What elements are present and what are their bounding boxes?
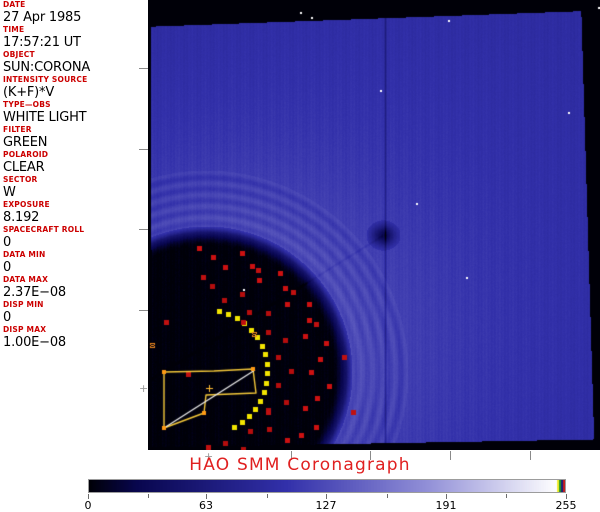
metadata-row: DATE27 Apr 1985 xyxy=(0,0,148,25)
metadata-value: 2.37E−08 xyxy=(3,285,148,300)
metadata-value: 0 xyxy=(3,235,148,250)
metadata-value: CLEAR xyxy=(3,160,148,175)
metadata-label: DISP MAX xyxy=(3,325,148,335)
metadata-row: TIME17:57:21 UT xyxy=(0,25,148,50)
metadata-value: 17:57:21 UT xyxy=(3,35,148,50)
metadata-row: FILTERGREEN xyxy=(0,125,148,150)
metadata-label: SPACECRAFT ROLL xyxy=(3,225,148,235)
colorbar-gradient xyxy=(89,480,565,492)
metadata-label: DATA MIN xyxy=(3,250,148,260)
colorbar-tick-label: 191 xyxy=(436,499,457,512)
metadata-row: DISP MAX1.00E−08 xyxy=(0,325,148,350)
colorbar-tick-label: 255 xyxy=(556,499,577,512)
metadata-value: 0 xyxy=(3,260,148,275)
coronagraph-image-panel[interactable] xyxy=(148,0,600,450)
metadata-row: SECTORW xyxy=(0,175,148,200)
metadata-row: INTENSITY SOURCE(K+F)*V xyxy=(0,75,148,100)
colorbar-minor-tick xyxy=(506,494,507,498)
colorbar[interactable] xyxy=(88,479,566,493)
metadata-label: INTENSITY SOURCE xyxy=(3,75,148,85)
metadata-label: EXPOSURE xyxy=(3,200,148,210)
axis-tick-left xyxy=(139,68,148,69)
metadata-row: POLAROIDCLEAR xyxy=(0,150,148,175)
metadata-label: FILTER xyxy=(3,125,148,135)
metadata-label: SECTOR xyxy=(3,175,148,185)
axis-tick-left xyxy=(139,310,148,311)
metadata-value: 0 xyxy=(3,310,148,325)
colorbar-tick-label: 0 xyxy=(85,499,92,512)
metadata-row: DATA MAX2.37E−08 xyxy=(0,275,148,300)
axis-tick-left xyxy=(139,229,148,230)
crosshair-marker-left: + xyxy=(139,383,148,394)
metadata-value: 8.192 xyxy=(3,210,148,225)
metadata-row: SPACECRAFT ROLL0 xyxy=(0,225,148,250)
metadata-row: DATA MIN0 xyxy=(0,250,148,275)
colorbar-minor-tick xyxy=(387,494,388,498)
metadata-panel: DATE27 Apr 1985TIME17:57:21 UTOBJECTSUN:… xyxy=(0,0,148,450)
metadata-value: WHITE LIGHT xyxy=(3,110,148,125)
metadata-value: 1.00E−08 xyxy=(3,335,148,350)
metadata-label: DISP MIN xyxy=(3,300,148,310)
metadata-label: OBJECT xyxy=(3,50,148,60)
corona-image[interactable] xyxy=(148,0,600,450)
colorbar-minor-tick xyxy=(267,494,268,498)
colorbar-tick-label: 63 xyxy=(199,499,213,512)
metadata-row: EXPOSURE8.192 xyxy=(0,200,148,225)
metadata-value: (K+F)*V xyxy=(3,85,148,100)
metadata-value: SUN:CORONA xyxy=(3,60,148,75)
metadata-row: TYPE—OBSWHITE LIGHT xyxy=(0,100,148,125)
metadata-label: TYPE—OBS xyxy=(3,100,148,110)
metadata-label: POLAROID xyxy=(3,150,148,160)
metadata-value: 27 Apr 1985 xyxy=(3,10,148,25)
metadata-label: DATE xyxy=(3,0,148,10)
metadata-row: OBJECTSUN:CORONA xyxy=(0,50,148,75)
colorbar-minor-tick xyxy=(148,494,149,498)
metadata-row: DISP MIN0 xyxy=(0,300,148,325)
metadata-label: TIME xyxy=(3,25,148,35)
colorbar-tick-label: 127 xyxy=(316,499,337,512)
axis-tick-left xyxy=(139,149,148,150)
metadata-label: DATA MAX xyxy=(3,275,148,285)
metadata-value: GREEN xyxy=(3,135,148,150)
metadata-value: W xyxy=(3,185,148,200)
colorbar-title: HAO SMM Coronagraph xyxy=(0,455,600,475)
